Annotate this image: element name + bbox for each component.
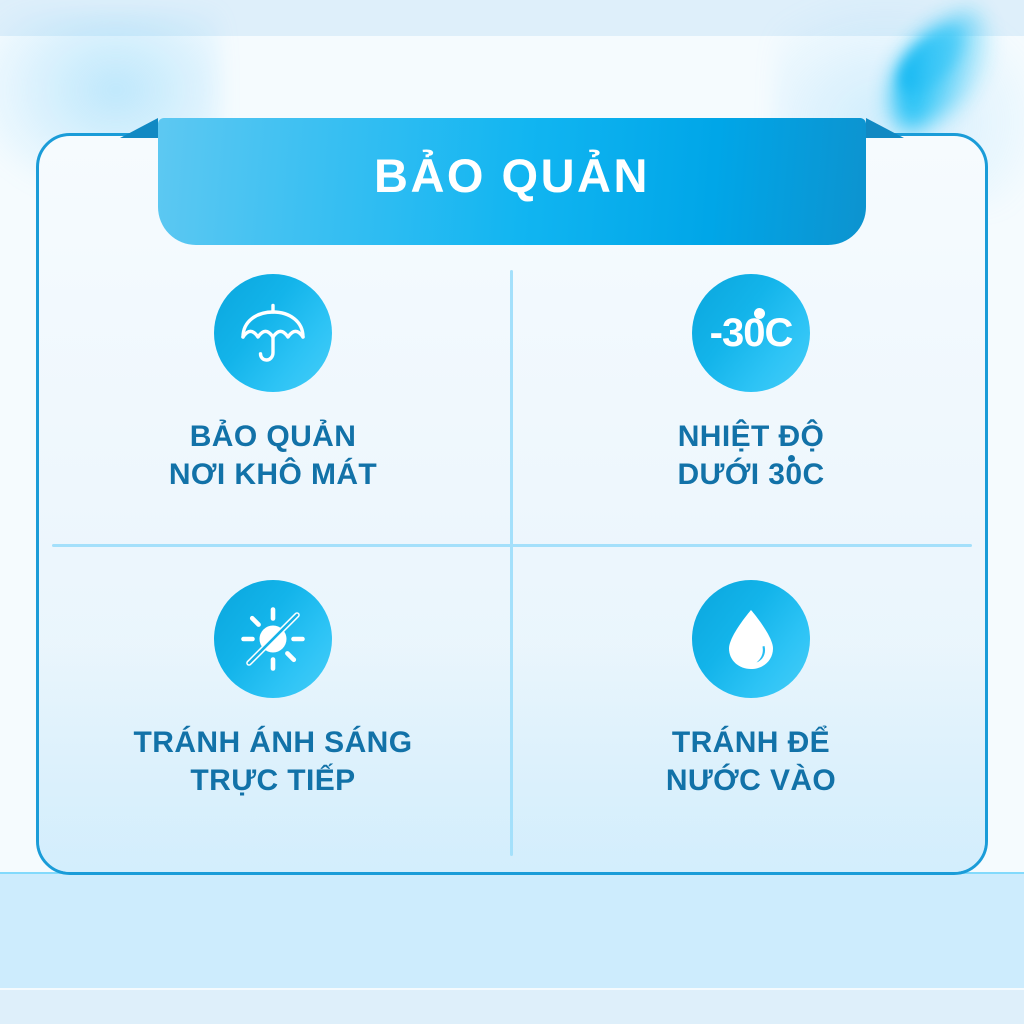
info-cell-storage-dry: BẢO QUẢN NƠI KHÔ MÁT — [36, 274, 510, 495]
info-cell-no-sunlight: TRÁNH ÁNH SÁNG TRỰC TIẾP — [36, 580, 510, 801]
info-cell-label: TRÁNH ĐỂ NƯỚC VÀO — [514, 724, 988, 801]
info-cell-label-unit: C — [802, 458, 824, 491]
storage-instructions-infographic: BẢO QUẢN NƠI KHÔ MÁT -30C NHIỆT ĐỘ DƯỚI … — [0, 0, 1024, 1024]
background-band-bottom — [0, 990, 1024, 1024]
temperature-badge-unit: C — [764, 311, 792, 355]
water-drop-icon — [692, 580, 810, 698]
info-grid: BẢO QUẢN NƠI KHÔ MÁT -30C NHIỆT ĐỘ DƯỚI … — [36, 262, 988, 875]
umbrella-icon — [214, 274, 332, 392]
background-band-bottom-cyan — [0, 874, 1024, 988]
grid-divider-vertical — [510, 270, 513, 856]
info-cell-label: BẢO QUẢN NƠI KHÔ MÁT — [36, 418, 510, 495]
temperature-badge-text: -30C — [710, 313, 793, 353]
no-sunlight-icon — [214, 580, 332, 698]
grid-divider-horizontal — [52, 544, 972, 547]
info-cell-temperature: -30C NHIỆT ĐỘ DƯỚI 30C — [514, 274, 988, 495]
banner: BẢO QUẢN — [158, 118, 866, 245]
temperature-badge: -30C — [692, 274, 810, 392]
page-title: BẢO QUẢN — [158, 148, 866, 203]
info-cell-no-water: TRÁNH ĐỂ NƯỚC VÀO — [514, 580, 988, 801]
info-cell-label-wrap: NHIỆT ĐỘ DƯỚI 30C — [514, 418, 988, 495]
info-cell-label: TRÁNH ÁNH SÁNG TRỰC TIẾP — [36, 724, 510, 801]
